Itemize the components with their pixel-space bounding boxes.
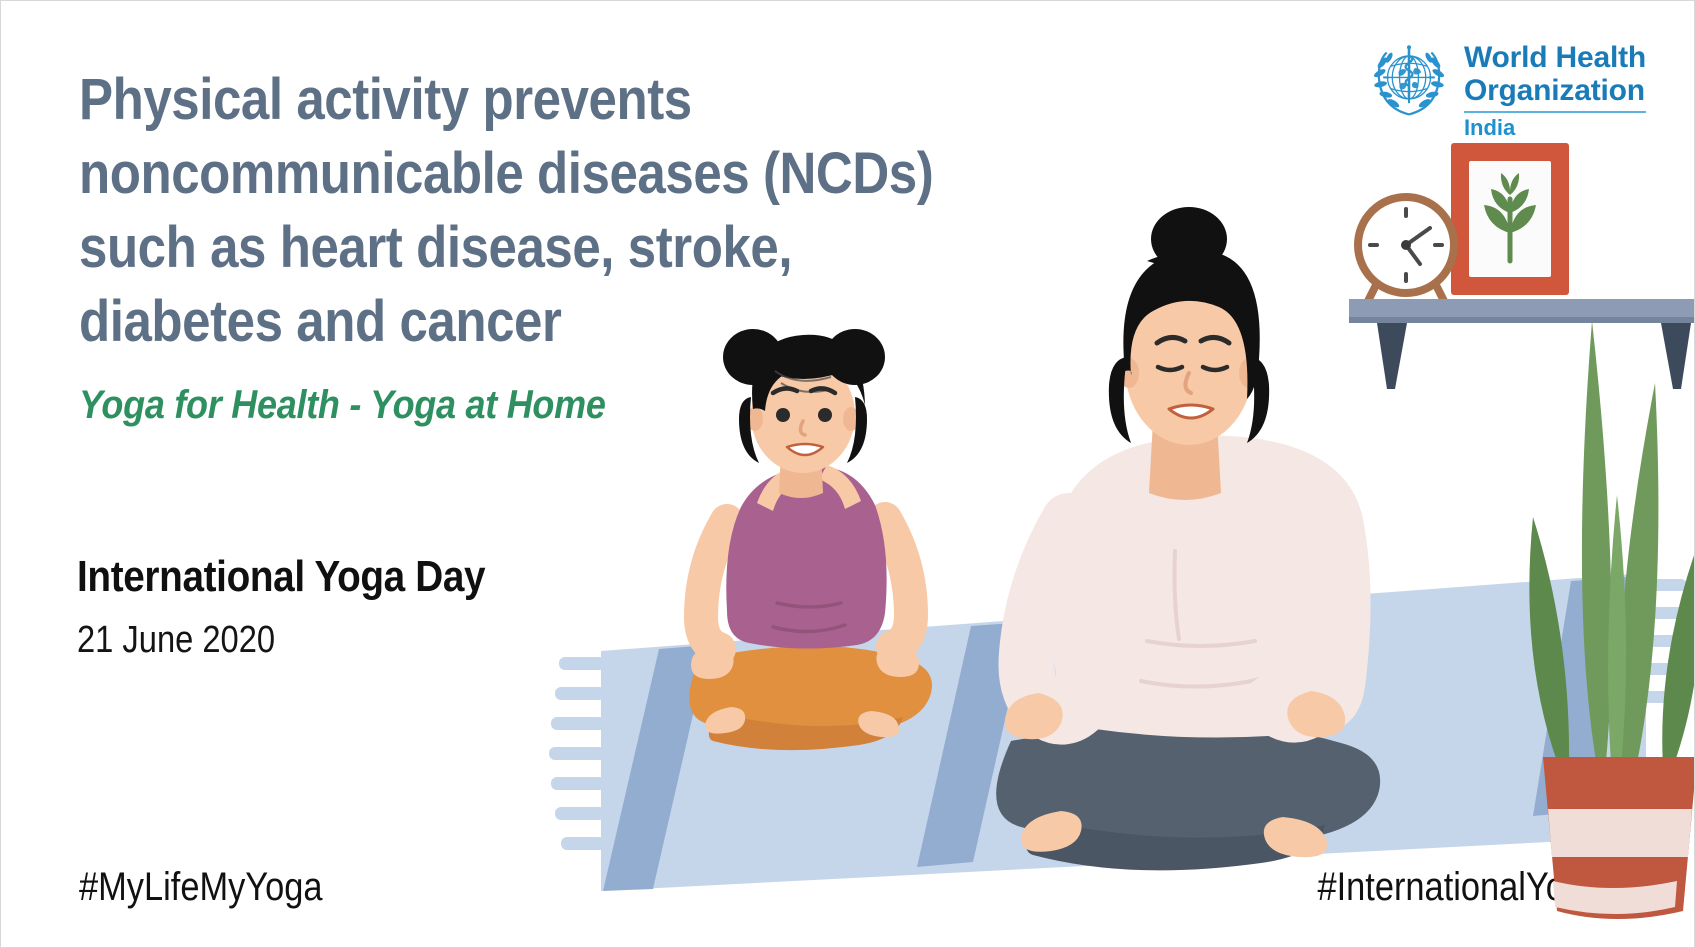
woman-meditating-figure	[996, 207, 1380, 870]
event-title: International Yoga Day	[77, 549, 485, 605]
hashtag-mylifemyyoga: #MyLifeMyYoga	[79, 863, 322, 911]
who-divider-rule	[1464, 111, 1646, 113]
wall-shelf-group	[1349, 143, 1695, 389]
alarm-clock-icon	[1358, 197, 1454, 307]
page-subtitle: Yoga for Health - Yoga at Home	[79, 379, 606, 431]
potted-plant-group	[1529, 321, 1695, 919]
who-emblem-icon	[1366, 37, 1452, 123]
event-date: 21 June 2020	[77, 615, 275, 665]
poster-canvas: Physical activity prevents noncommunicab…	[0, 0, 1695, 948]
girl-meditating-figure	[689, 329, 932, 750]
who-organization-name: World Health Organization	[1464, 41, 1646, 107]
yoga-illustration	[541, 121, 1695, 948]
